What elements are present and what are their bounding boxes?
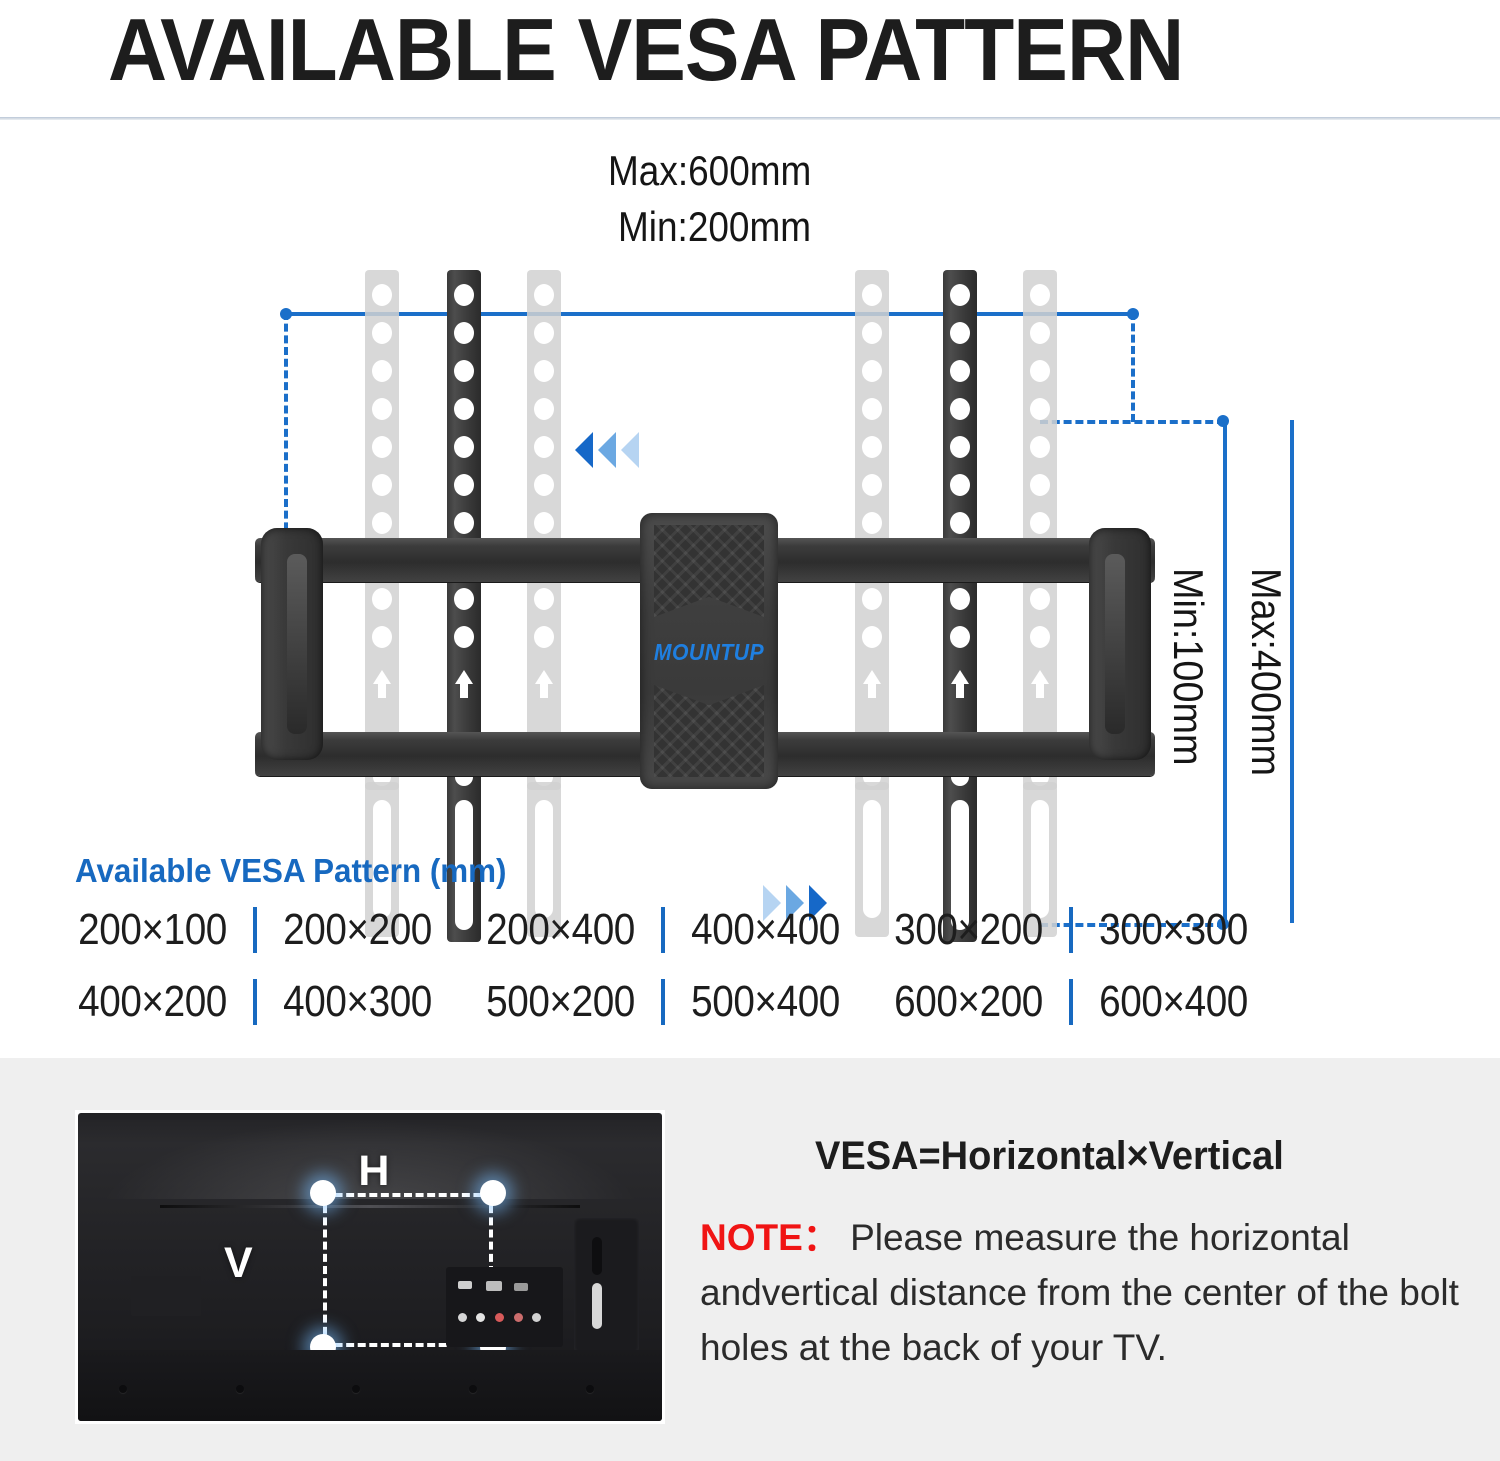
vesa-separator [1069, 907, 1073, 953]
mount-rail-ghost [1023, 270, 1057, 790]
mount-rail-ghost [527, 270, 561, 790]
mount-center-plate: MOUNTUP [640, 513, 778, 789]
mount-endcap-left [261, 528, 323, 760]
horizontal-max-label: Max:600mm [608, 148, 811, 194]
vesa-separator [253, 979, 257, 1025]
vesa-pattern-value: 600×200 [894, 977, 1043, 1027]
port-rca-yellow [458, 1313, 467, 1322]
vesa-pattern-value: 200×400 [486, 905, 635, 955]
port-hdmi [458, 1281, 472, 1289]
port-rca-white [476, 1313, 485, 1322]
bolt-hole [480, 1180, 506, 1206]
tv-side-port-panel [574, 1218, 638, 1354]
vesa-pattern-value: 200×100 [78, 905, 227, 955]
mount-rail-ghost [365, 270, 399, 790]
page-header: AVAILABLE VESA PATTERN [0, 0, 1500, 118]
chevron-left-icon [575, 432, 593, 468]
min-height-dimension-line [1223, 420, 1227, 923]
vertical-min-label: Min:100mm [1164, 568, 1212, 765]
vesa-pattern-heading: Available VESA Pattern (mm) [75, 852, 506, 890]
chevron-arrows-left [575, 432, 639, 468]
tv-port-panel [446, 1267, 563, 1347]
vesa-pattern-row-2: 400×200 400×300 500×200 500×400 600×200 … [68, 977, 1258, 1027]
bolt-hole [310, 1180, 336, 1206]
note-label: NOTE： [700, 1217, 840, 1258]
vesa-pattern-value: 600×400 [1099, 977, 1248, 1027]
vesa-pattern-value: 300×200 [894, 905, 1043, 955]
mount-rail-ghost [855, 270, 889, 790]
port-lan [514, 1283, 528, 1291]
vesa-pattern-value: 500×400 [691, 977, 840, 1027]
mount-rail-active [447, 270, 481, 942]
port-rca-extra1 [514, 1313, 523, 1322]
vesa-formula-title: VESA=Horizontal×Vertical [815, 1134, 1284, 1179]
mount-endcap-right [1089, 528, 1151, 760]
mount-rail-active [943, 270, 977, 942]
tv-back-illustration: H V [75, 1110, 665, 1424]
chevron-left-icon [598, 432, 616, 468]
tv-side-slot-bottom [592, 1283, 602, 1329]
port-rca-extra2 [532, 1313, 541, 1322]
note-text-block: NOTE： Please measure the horizontal andv… [700, 1210, 1470, 1375]
horizontal-axis-label: H [358, 1150, 389, 1193]
vesa-pattern-row-1: 200×100 200×200 200×400 400×400 300×200 … [68, 905, 1258, 955]
tv-label-plate [131, 1276, 201, 1316]
dimension-endpoint-dot [1217, 415, 1229, 427]
vesa-pattern-value: 400×200 [78, 977, 227, 1027]
vesa-dash-left [323, 1193, 327, 1347]
vesa-pattern-value: 400×300 [283, 977, 432, 1027]
vertical-axis-label: V [224, 1242, 253, 1285]
vesa-pattern-value: 400×400 [691, 905, 840, 955]
tv-lower-bezel [78, 1350, 662, 1421]
vesa-separator [1069, 979, 1073, 1025]
center-plate-texture-top [654, 525, 764, 617]
mountup-logo: MOUNTUP [646, 639, 773, 666]
vesa-pattern-value: 300×300 [1099, 905, 1248, 955]
chevron-left-icon [621, 432, 639, 468]
vesa-separator [661, 907, 665, 953]
page-title: AVAILABLE VESA PATTERN [108, 0, 1183, 106]
tv-screw-point [236, 1385, 244, 1393]
port-rca-red [495, 1313, 504, 1322]
max-height-dimension-line [1290, 420, 1294, 923]
center-plate-texture-bottom [654, 685, 764, 777]
tv-side-slot-top [592, 1237, 602, 1275]
vesa-dash-top [323, 1193, 492, 1197]
horizontal-min-label: Min:200mm [618, 204, 811, 250]
vertical-max-label: Max:400mm [1242, 568, 1290, 776]
vesa-separator [253, 907, 257, 953]
vesa-pattern-value: 500×200 [486, 977, 635, 1027]
vesa-pattern-value: 200×200 [283, 905, 432, 955]
vesa-separator [661, 979, 665, 1025]
port-usb [486, 1281, 502, 1291]
